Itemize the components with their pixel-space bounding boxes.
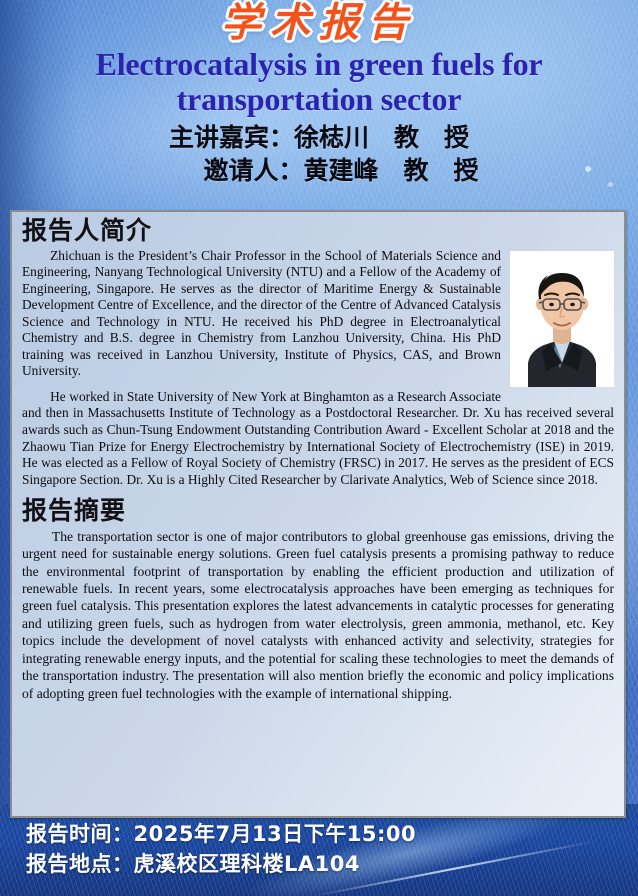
event-details-footer: 报告时间：2025年7月13日下午15:00 报告地点：虎溪校区理科楼LA104 xyxy=(26,820,416,880)
poster-header: 学术报告 Electrocatalysis in green fuels for… xyxy=(0,0,638,206)
poster-chinese-title: 学术报告 xyxy=(0,2,638,44)
bio-section-heading: 报告人简介 xyxy=(22,216,614,246)
academic-lecture-poster: 学术报告 Electrocatalysis in green fuels for… xyxy=(0,0,638,896)
abstract-section-heading: 报告摘要 xyxy=(22,496,614,526)
speaker-line: 主讲嘉宾：徐梽川 教 授 xyxy=(0,122,638,155)
portrait-illustration xyxy=(510,251,614,387)
host-line: 邀请人：黄建峰 教 授 xyxy=(0,155,638,188)
content-panel: 报告人简介 xyxy=(10,210,626,818)
bio-section: Zhichuan is the President’s Chair Profes… xyxy=(22,248,614,489)
speaker-portrait-photo xyxy=(510,251,614,387)
event-location-line: 报告地点：虎溪校区理科楼LA104 xyxy=(26,850,416,880)
bio-paragraph-2: He worked in State University of New Yor… xyxy=(22,389,614,488)
speaker-info-block: 主讲嘉宾：徐梽川 教 授 邀请人：黄建峰 教 授 xyxy=(0,122,638,187)
event-time-line: 报告时间：2025年7月13日下午15:00 xyxy=(26,820,416,850)
abstract-paragraph: The transportation sector is one of majo… xyxy=(22,528,614,703)
poster-english-title: Electrocatalysis in green fuels for tran… xyxy=(0,47,638,116)
